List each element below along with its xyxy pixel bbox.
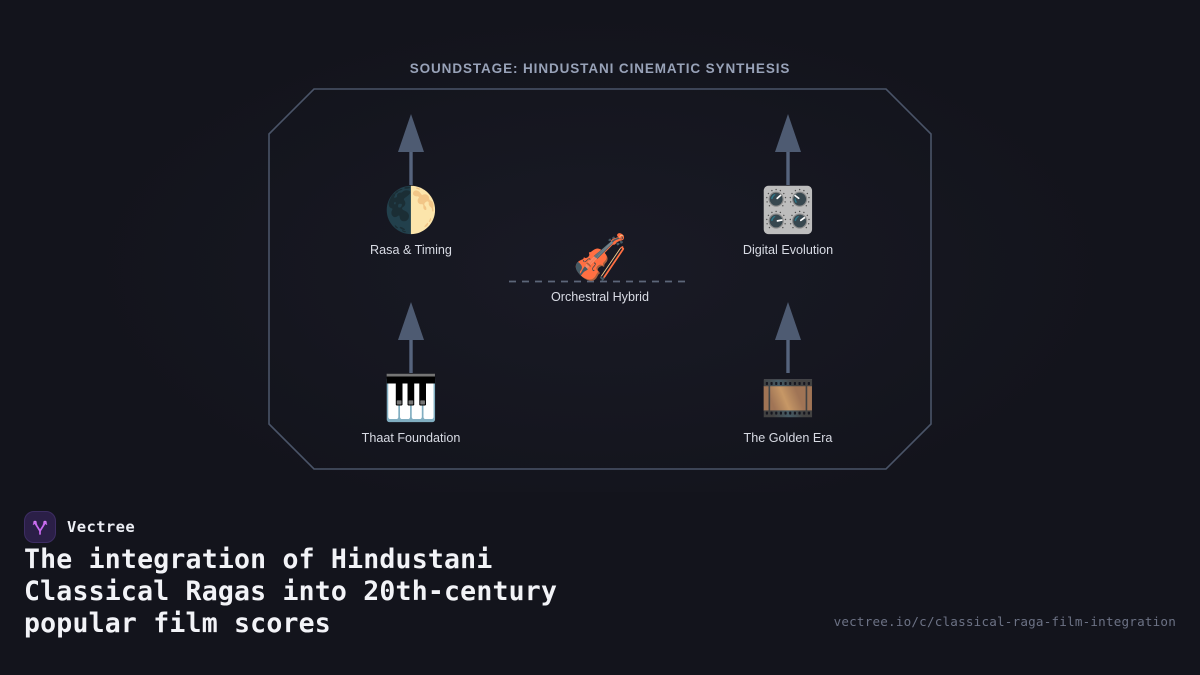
- node-thaat-foundation[interactable]: 🎹 Thaat Foundation: [316, 373, 506, 445]
- diagram-title: SOUNDSTAGE: HINDUSTANI CINEMATIC SYNTHES…: [0, 61, 1200, 76]
- node-label: Rasa & Timing: [316, 243, 506, 257]
- vectree-logo: [24, 511, 56, 543]
- diagram-panel: SOUNDSTAGE: HINDUSTANI CINEMATIC SYNTHES…: [0, 0, 1200, 492]
- brand-name: Vectree: [67, 518, 135, 536]
- caption-band: Vectree The integration of Hindustani Cl…: [0, 492, 1200, 675]
- first-quarter-moon-icon: 🌓: [316, 185, 506, 237]
- node-label: Digital Evolution: [693, 243, 883, 257]
- node-label: Thaat Foundation: [316, 431, 506, 445]
- node-rasa-timing[interactable]: 🌓 Rasa & Timing: [316, 185, 506, 257]
- control-knobs-icon: 🎛️: [693, 185, 883, 237]
- brand-row[interactable]: Vectree: [24, 511, 135, 543]
- vectree-tree-logo-icon: [30, 517, 50, 537]
- node-orchestral-hybrid[interactable]: 🎻 Orchestral Hybrid: [505, 232, 695, 304]
- node-label: The Golden Era: [693, 431, 883, 445]
- musical-keyboard-icon: 🎹: [316, 373, 506, 425]
- film-frames-icon: 🎞️: [693, 373, 883, 425]
- node-digital-evolution[interactable]: 🎛️ Digital Evolution: [693, 185, 883, 257]
- headline: The integration of Hindustani Classical …: [24, 544, 784, 640]
- node-the-golden-era[interactable]: 🎞️ The Golden Era: [693, 373, 883, 445]
- node-label: Orchestral Hybrid: [505, 290, 695, 304]
- violin-icon: 🎻: [505, 232, 695, 284]
- source-url[interactable]: vectree.io/c/classical-raga-film-integra…: [834, 614, 1176, 629]
